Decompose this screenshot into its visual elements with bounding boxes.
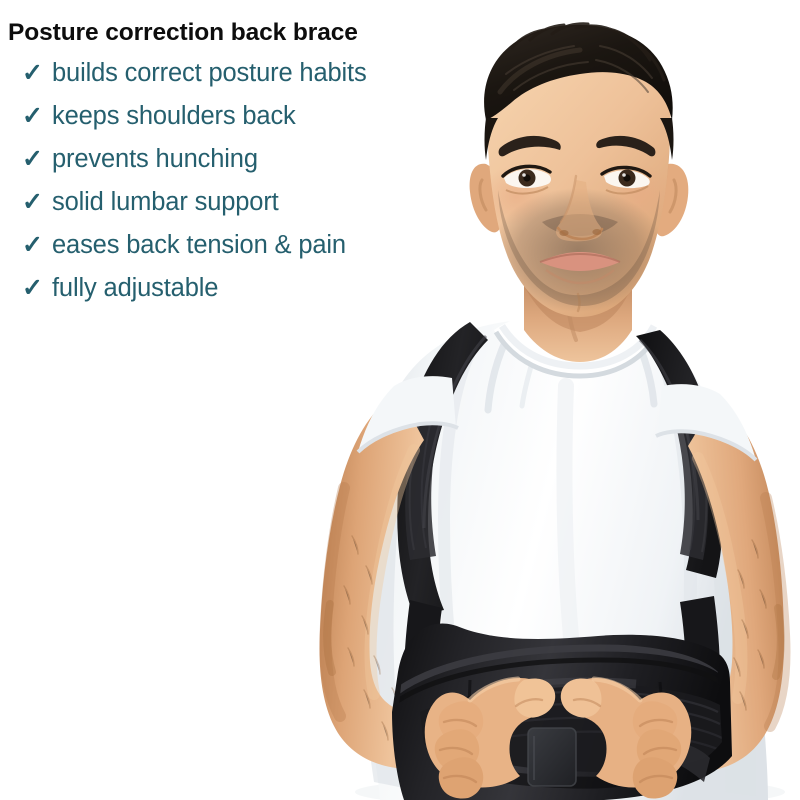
benefit-label: solid lumbar support [52,190,279,216]
check-icon: ✓ [22,104,52,129]
check-icon: ✓ [22,147,52,172]
check-icon: ✓ [22,190,52,215]
list-item: ✓ builds correct posture habits [0,61,367,104]
benefit-label: builds correct posture habits [52,61,367,87]
list-item: ✓ fully adjustable [0,276,367,319]
list-item: ✓ keeps shoulders back [0,104,367,147]
list-item: ✓ eases back tension & pain [0,233,367,276]
benefit-label: prevents hunching [52,147,258,173]
check-icon: ✓ [22,61,52,86]
check-icon: ✓ [22,276,52,301]
list-item: ✓ prevents hunching [0,147,367,190]
check-icon: ✓ [22,233,52,258]
benefit-label: fully adjustable [52,276,218,302]
product-marketing-image: Posture correction back brace ✓ builds c… [0,0,800,800]
benefit-list: ✓ builds correct posture habits ✓ keeps … [0,61,367,319]
benefit-label: keeps shoulders back [52,104,296,130]
benefit-label: eases back tension & pain [52,233,346,259]
page-title: Posture correction back brace [8,19,358,47]
list-item: ✓ solid lumbar support [0,190,367,233]
